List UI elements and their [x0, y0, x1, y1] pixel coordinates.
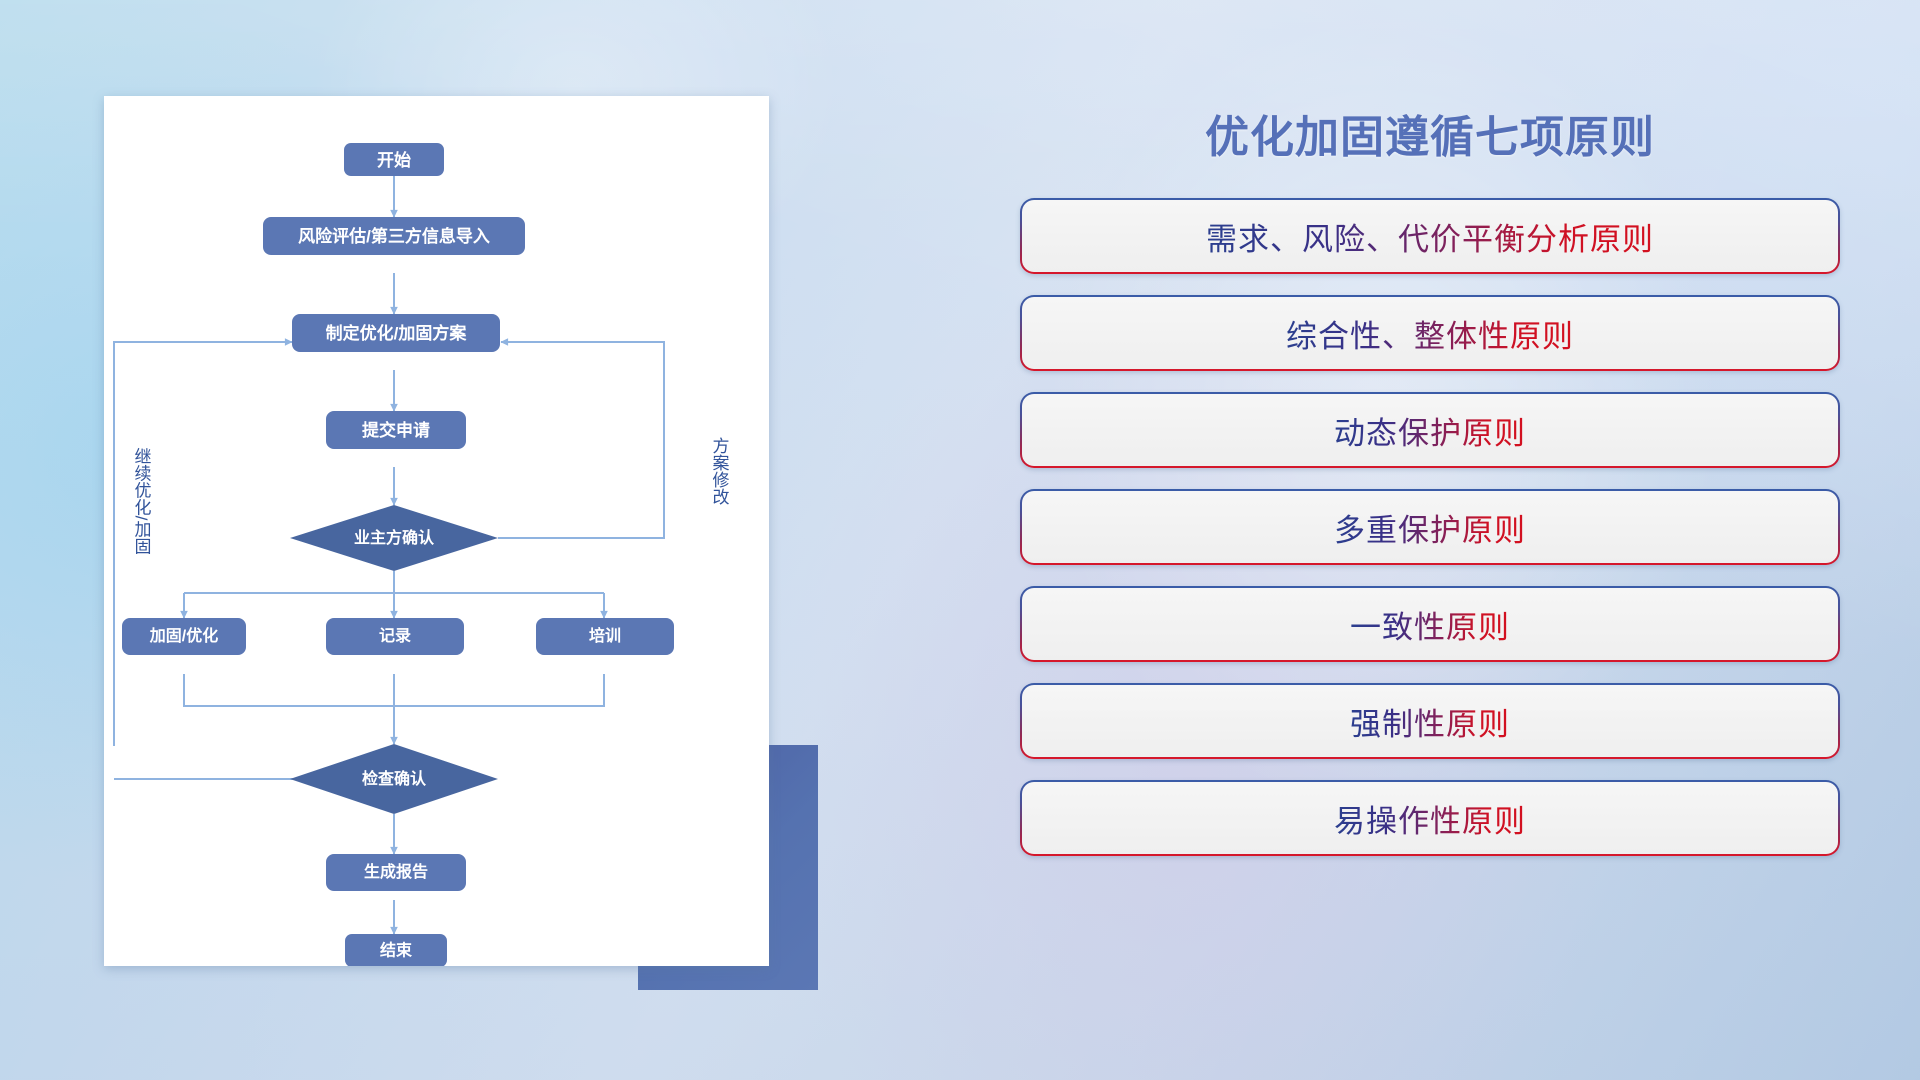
flow-side-label-left-loop: 继续优化/加固	[132, 448, 152, 555]
flow-node-training-label: 培训	[589, 626, 621, 645]
flow-node-end-label: 结束	[379, 941, 413, 960]
principle-item-inner: 动态保护原则	[1022, 394, 1838, 466]
principles-panel: 优化加固遵循七项原则 需求、风险、代价平衡分析原则 综合性、整体性原则 动态保护…	[1020, 96, 1840, 996]
principle-item-label: 动态保护原则	[1334, 408, 1526, 453]
principle-item[interactable]: 强制性原则	[1020, 683, 1840, 759]
flow-node-reinforce-label: 加固/优化	[149, 626, 218, 645]
flow-node-risk-assessment-label: 风险评估/第三方信息导入	[298, 226, 490, 246]
principle-item[interactable]: 综合性、整体性原则	[1020, 295, 1840, 371]
flow-node-start-label: 开始	[377, 150, 411, 170]
flow-node-risk-assessment[interactable]: 风险评估/第三方信息导入	[263, 217, 525, 255]
flow-node-submit-label: 提交申请	[362, 420, 430, 440]
flow-node-record[interactable]: 记录	[326, 618, 464, 655]
principle-item-inner: 一致性原则	[1022, 588, 1838, 660]
flow-node-check-confirm-label: 检查确认	[362, 769, 427, 788]
principle-item-label: 综合性、整体性原则	[1286, 311, 1574, 356]
flow-node-owner-confirm-label: 业主方确认	[354, 528, 435, 547]
flow-node-plan[interactable]: 制定优化/加固方案	[292, 314, 500, 352]
flow-node-report-label: 生成报告	[364, 862, 428, 881]
principle-item-inner: 易操作性原则	[1022, 782, 1838, 854]
flow-node-owner-confirm[interactable]: 业主方确认	[290, 505, 498, 571]
flow-node-start[interactable]: 开始	[344, 143, 444, 176]
principle-item[interactable]: 易操作性原则	[1020, 780, 1840, 856]
principle-item-inner: 综合性、整体性原则	[1022, 297, 1838, 369]
principle-item-label: 多重保护原则	[1334, 505, 1526, 550]
principles-list: 需求、风险、代价平衡分析原则 综合性、整体性原则 动态保护原则 多重保护原则 一…	[1020, 198, 1840, 856]
principle-item-label: 需求、风险、代价平衡分析原则	[1206, 214, 1654, 259]
flow-node-end[interactable]: 结束	[345, 934, 447, 966]
flowchart-diagram: 开始 风险评估/第三方信息导入 制定优化/加固方案 提交申请 业主方确认 加固/…	[104, 96, 769, 966]
principle-item-label: 易操作性原则	[1334, 796, 1526, 841]
flowchart-card: 开始 风险评估/第三方信息导入 制定优化/加固方案 提交申请 业主方确认 加固/…	[104, 96, 769, 966]
flow-node-reinforce[interactable]: 加固/优化	[122, 618, 246, 655]
principle-item[interactable]: 一致性原则	[1020, 586, 1840, 662]
principles-title: 优化加固遵循七项原则	[1020, 114, 1840, 162]
principle-item-inner: 强制性原则	[1022, 685, 1838, 757]
flow-node-submit[interactable]: 提交申请	[326, 411, 466, 449]
flow-side-label-right-loop: 方案修改	[710, 437, 730, 505]
flow-node-training[interactable]: 培训	[536, 618, 674, 655]
principle-item-inner: 需求、风险、代价平衡分析原则	[1022, 200, 1838, 272]
principle-item[interactable]: 需求、风险、代价平衡分析原则	[1020, 198, 1840, 274]
principle-item-label: 一致性原则	[1350, 602, 1510, 647]
flow-node-check-confirm[interactable]: 检查确认	[290, 744, 498, 814]
principle-item[interactable]: 动态保护原则	[1020, 392, 1840, 468]
principle-item-inner: 多重保护原则	[1022, 491, 1838, 563]
principle-item-label: 强制性原则	[1350, 699, 1510, 744]
flow-node-record-label: 记录	[379, 627, 411, 645]
flow-node-plan-label: 制定优化/加固方案	[326, 323, 468, 343]
flow-node-report[interactable]: 生成报告	[326, 854, 466, 891]
connector-right-loop	[498, 342, 664, 538]
principle-item[interactable]: 多重保护原则	[1020, 489, 1840, 565]
